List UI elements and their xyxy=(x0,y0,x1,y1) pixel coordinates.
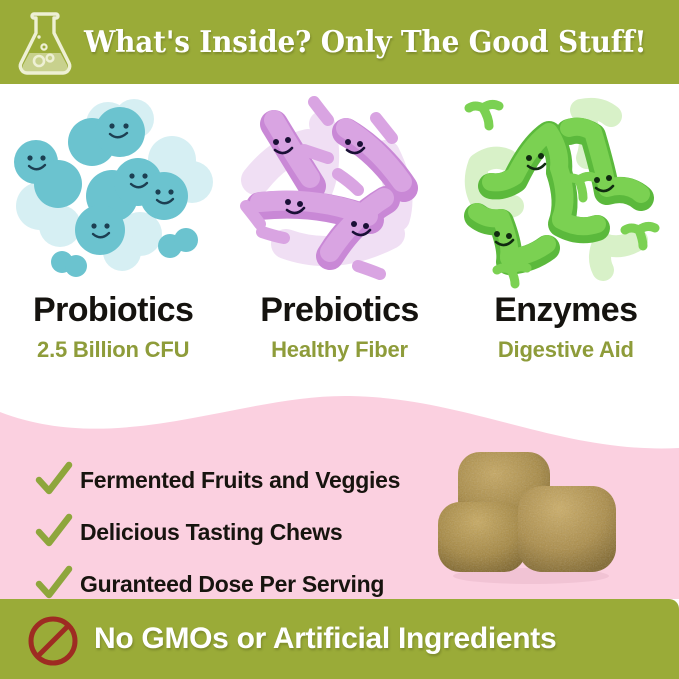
infographic-page: What's Inside? Only The Good Stuff! xyxy=(0,0,679,679)
ingredient-title: Prebiotics xyxy=(260,293,418,327)
chew-cubes-photo xyxy=(436,444,626,584)
header-title: What's Inside? Only The Good Stuff! xyxy=(84,0,646,84)
header-band: What's Inside? Only The Good Stuff! xyxy=(0,0,679,84)
ingredient-column-enzymes: Enzymes Digestive Aid xyxy=(453,84,679,394)
check-icon xyxy=(34,564,74,604)
feature-label: Guranteed Dose Per Serving xyxy=(80,571,384,598)
feature-item: Delicious Tasting Chews xyxy=(34,506,454,558)
check-icon xyxy=(34,512,74,552)
probiotic-bacteria-illustration xyxy=(0,84,226,289)
ingredient-column-probiotics: Probiotics 2.5 Billion CFU xyxy=(0,84,226,394)
features-section: Fermented Fruits and Veggies Delicious T… xyxy=(0,388,679,599)
ingredient-subtitle: 2.5 Billion CFU xyxy=(37,339,189,361)
feature-list: Fermented Fruits and Veggies Delicious T… xyxy=(34,454,454,610)
feature-label: Fermented Fruits and Veggies xyxy=(80,467,400,494)
check-icon xyxy=(34,460,74,500)
ingredient-title: Probiotics xyxy=(33,293,193,327)
ingredient-title: Enzymes xyxy=(494,293,637,327)
ingredient-subtitle: Healthy Fiber xyxy=(271,339,408,361)
ingredient-column-prebiotics: Prebiotics Healthy Fiber xyxy=(226,84,452,394)
no-prohibited-icon xyxy=(27,615,79,667)
enzyme-molecules-illustration xyxy=(453,84,679,289)
feature-label: Delicious Tasting Chews xyxy=(80,519,342,546)
footer-band: No GMOs or Artificial Ingredients xyxy=(0,599,679,679)
ingredients-section: Probiotics 2.5 Billion CFU xyxy=(0,84,679,394)
prebiotic-fiber-rods-illustration xyxy=(226,84,452,289)
feature-item: Fermented Fruits and Veggies xyxy=(34,454,454,506)
ingredient-columns: Probiotics 2.5 Billion CFU xyxy=(0,84,679,394)
ingredient-subtitle: Digestive Aid xyxy=(498,339,634,361)
footer-title: No GMOs or Artificial Ingredients xyxy=(94,599,556,679)
flask-icon xyxy=(14,9,76,75)
